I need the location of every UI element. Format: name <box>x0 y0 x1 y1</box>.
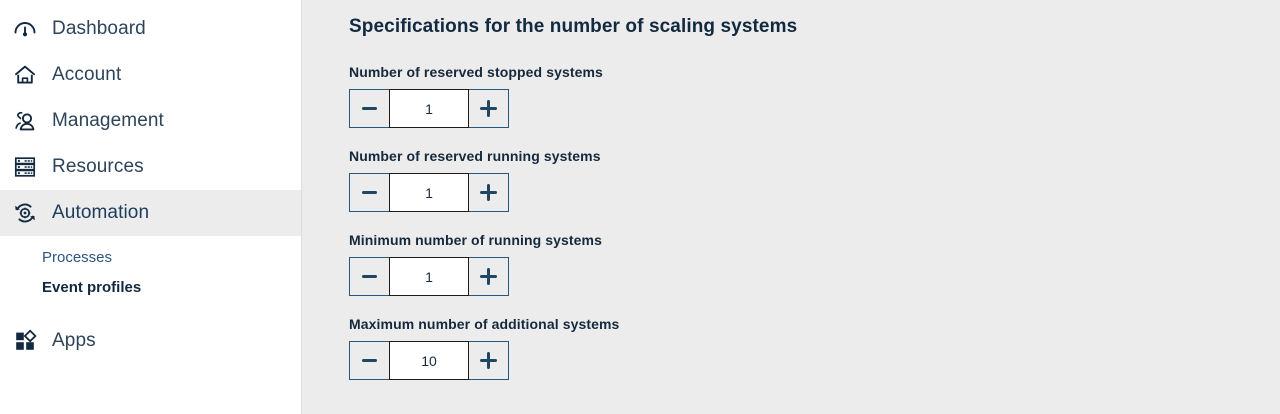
plus-icon <box>480 100 497 117</box>
sidebar-item-automation[interactable]: Automation <box>0 190 301 236</box>
sidebar-item-resources[interactable]: Resources <box>0 144 301 190</box>
field-group-reserved-running: Number of reserved running systems <box>349 148 1280 212</box>
quantity-input[interactable] <box>389 257 469 296</box>
sidebar-item-label: Apps <box>52 330 96 352</box>
field-group-minimum-running: Minimum number of running systems <box>349 232 1280 296</box>
minus-icon <box>362 107 377 110</box>
sidebar-item-label: Account <box>52 64 121 86</box>
users-icon <box>8 104 42 138</box>
server-rack-icon <box>8 150 42 184</box>
quantity-stepper-minimum-running <box>349 257 509 296</box>
increment-button[interactable] <box>469 173 509 212</box>
home-icon <box>8 58 42 92</box>
gauge-icon <box>8 12 42 46</box>
sidebar-subitem-processes[interactable]: Processes <box>0 242 301 272</box>
sidebar-item-label: Dashboard <box>52 18 146 40</box>
field-label: Number of reserved running systems <box>349 148 1280 164</box>
sidebar-item-dashboard[interactable]: Dashboard <box>0 6 301 52</box>
minus-icon <box>362 191 377 194</box>
decrement-button[interactable] <box>349 89 389 128</box>
sidebar: Dashboard Account Managem <box>0 0 302 414</box>
sidebar-item-label: Resources <box>52 156 144 178</box>
minus-icon <box>362 359 377 362</box>
quantity-stepper-reserved-running <box>349 173 509 212</box>
sidebar-subitem-label: Event profiles <box>42 279 141 296</box>
decrement-button[interactable] <box>349 341 389 380</box>
sidebar-subitem-event-profiles[interactable]: Event profiles <box>0 272 301 302</box>
quantity-input[interactable] <box>389 89 469 128</box>
decrement-button[interactable] <box>349 257 389 296</box>
plus-icon <box>480 184 497 201</box>
page-title: Specifications for the number of scaling… <box>349 16 1280 38</box>
sidebar-item-account[interactable]: Account <box>0 52 301 98</box>
quantity-input[interactable] <box>389 341 469 380</box>
main-content: Specifications for the number of scaling… <box>302 0 1280 414</box>
field-group-reserved-stopped: Number of reserved stopped systems <box>349 64 1280 128</box>
increment-button[interactable] <box>469 89 509 128</box>
field-group-maximum-additional: Maximum number of additional systems <box>349 316 1280 380</box>
field-label: Minimum number of running systems <box>349 232 1280 248</box>
quantity-stepper-reserved-stopped <box>349 89 509 128</box>
apps-grid-icon <box>8 324 42 358</box>
increment-button[interactable] <box>469 257 509 296</box>
plus-icon <box>480 268 497 285</box>
quantity-input[interactable] <box>389 173 469 212</box>
sidebar-item-label: Management <box>52 110 164 132</box>
app-shell: Dashboard Account Managem <box>0 0 1280 414</box>
decrement-button[interactable] <box>349 173 389 212</box>
minus-icon <box>362 275 377 278</box>
field-label: Maximum number of additional systems <box>349 316 1280 332</box>
sidebar-item-apps[interactable]: Apps <box>0 318 301 364</box>
gear-refresh-icon <box>8 196 42 230</box>
sidebar-subitem-label: Processes <box>42 249 112 266</box>
field-label: Number of reserved stopped systems <box>349 64 1280 80</box>
increment-button[interactable] <box>469 341 509 380</box>
quantity-stepper-maximum-additional <box>349 341 509 380</box>
plus-icon <box>480 352 497 369</box>
sidebar-item-label: Automation <box>52 202 149 224</box>
sidebar-item-management[interactable]: Management <box>0 98 301 144</box>
